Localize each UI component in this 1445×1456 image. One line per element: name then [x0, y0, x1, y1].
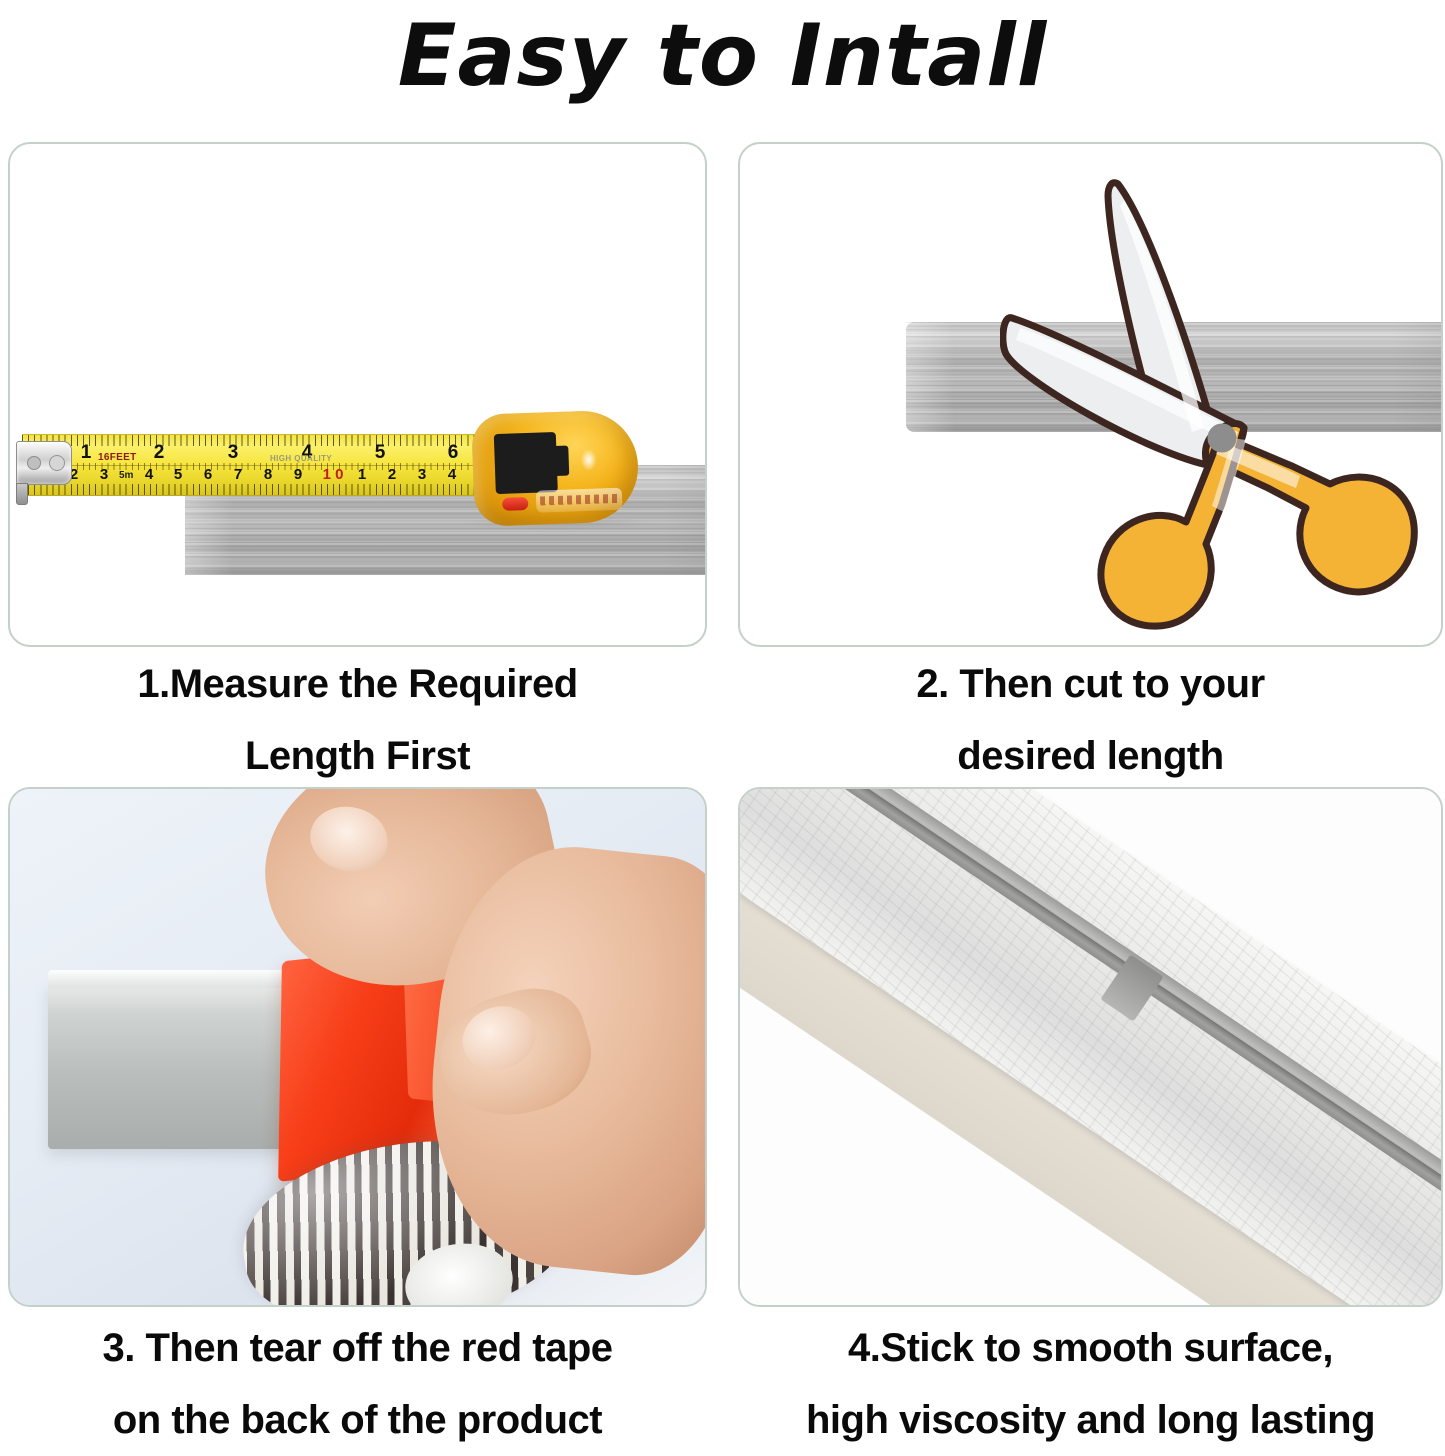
inch-label: 3	[228, 442, 239, 464]
step-3-caption: 3. Then tear off the red tape on the bac…	[8, 1312, 707, 1456]
tape-release-button	[502, 497, 528, 511]
cm-label: 1	[358, 466, 366, 483]
caption-line-2: high viscosity and long lasting	[738, 1384, 1443, 1456]
caption-line-2: on the back of the product	[8, 1384, 707, 1456]
cm-label: 8	[264, 466, 272, 483]
cm-label: 3	[100, 466, 108, 483]
step-panel-1: 1 2 3 4 5 6 2 3 4 5 6 7 8 9 1 0 1 2 3 4	[8, 142, 707, 647]
installed-strip-photo	[740, 789, 1441, 1305]
page-title: Easy to Intall	[0, 0, 1445, 118]
cm-label: 7	[234, 466, 242, 483]
cm-label: 4	[448, 466, 456, 483]
step-panel-4	[738, 787, 1443, 1307]
inch-scale-numbers: 1 2 3 4 5 6	[22, 442, 492, 466]
tape-lock-lever	[494, 432, 558, 494]
caption-line-2: Length First	[8, 720, 707, 792]
step-panel-3	[8, 787, 707, 1307]
caption-line-2: desired length	[738, 720, 1443, 792]
tape-measure-illustration: 1 2 3 4 5 6 2 3 4 5 6 7 8 9 1 0 1 2 3 4	[10, 144, 707, 647]
step-1-caption: 1.Measure the Required Length First	[8, 648, 707, 792]
cm-label: 6	[204, 466, 212, 483]
tear-tape-photo	[10, 789, 705, 1305]
caption-line-1: 1.Measure the Required	[137, 662, 577, 706]
tape-metric-label: 5m	[119, 470, 133, 481]
inch-label: 1	[81, 442, 92, 464]
metric-scale-numbers: 2 3 4 5 6 7 8 9 1 0 1 2 3 4 5	[22, 466, 492, 490]
step-2-caption: 2. Then cut to your desired length	[738, 648, 1443, 792]
inch-label: 5	[375, 442, 386, 464]
tape-brand-label: 16FEET	[98, 452, 136, 463]
cm-label: 9	[294, 466, 302, 483]
tape-measure-end-hook	[16, 441, 72, 485]
cm-label: 1 0	[323, 466, 344, 483]
tape-quality-label: HIGH QUALITY	[270, 454, 332, 463]
scissor-pivot-screw	[1208, 424, 1236, 452]
case-sticker	[536, 488, 623, 513]
inch-label: 6	[448, 442, 459, 464]
inch-label: 2	[154, 442, 165, 464]
tape-measure-blade: 1 2 3 4 5 6 2 3 4 5 6 7 8 9 1 0 1 2 3 4	[22, 434, 492, 496]
tape-measure-case	[471, 409, 640, 527]
step-panel-2	[738, 142, 1443, 647]
caption-line-1: 2. Then cut to your	[916, 662, 1264, 706]
scissors-illustration	[1000, 166, 1420, 636]
tape-hook-tab	[16, 483, 28, 505]
caption-line-1: 4.Stick to smooth surface,	[848, 1326, 1333, 1370]
caption-line-1: 3. Then tear off the red tape	[102, 1326, 612, 1370]
product-strip	[48, 984, 308, 1149]
cm-label: 2	[388, 466, 396, 483]
cm-label: 5	[174, 466, 182, 483]
step-4-caption: 4.Stick to smooth surface, high viscosit…	[738, 1312, 1443, 1456]
cm-label: 3	[418, 466, 426, 483]
cm-label: 4	[145, 466, 153, 483]
case-highlight	[580, 449, 597, 472]
